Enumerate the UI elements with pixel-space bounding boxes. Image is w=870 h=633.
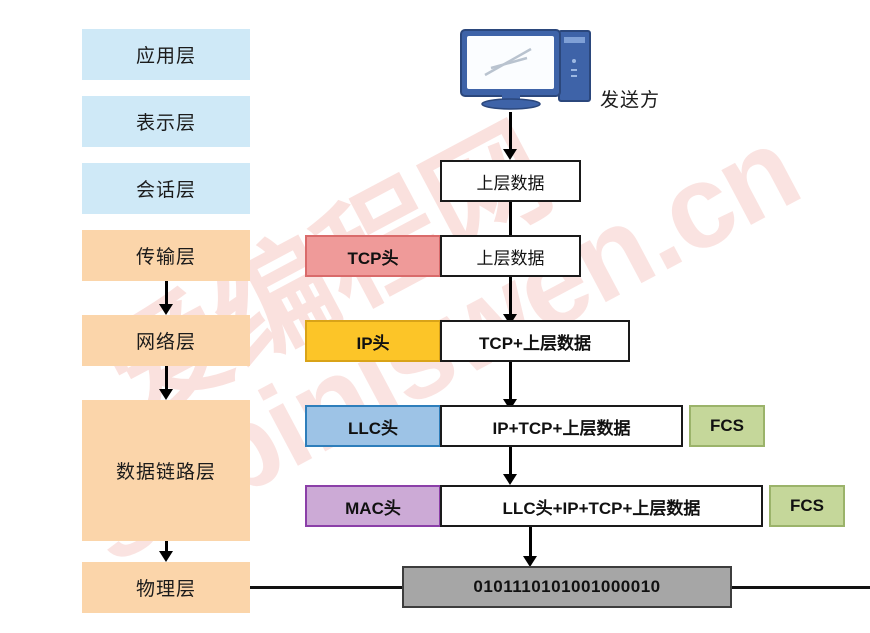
osi-layer-session[interactable]: 会话层	[82, 163, 250, 214]
media-line-left	[250, 586, 410, 589]
pdu-cell-ip-payload[interactable]: TCP+上层数据	[440, 320, 630, 362]
pdu-cell-label: TCP+上层数据	[479, 329, 591, 354]
arrow-datalink-to-physical	[158, 541, 174, 562]
pdu-cell-application-data[interactable]: 上层数据	[440, 160, 581, 202]
arrow-computer-to-data	[502, 112, 518, 160]
pdu-cell-label: 上层数据	[477, 169, 545, 194]
arrow-llc-to-mac	[502, 447, 518, 485]
arrow-transport-to-network	[158, 281, 174, 315]
pdu-cell-mac-payload[interactable]: LLC头+IP+TCP+上层数据	[440, 485, 763, 527]
pdu-cell-label: LLC头+IP+TCP+上层数据	[503, 494, 701, 519]
pdu-cell-label: IP头	[356, 329, 389, 354]
diagram-canvas: 爱编程网 subiniswen.cn 应用层 表示层 会话层 传输层 网络层 数…	[0, 0, 870, 633]
desktop-computer-icon	[455, 25, 600, 110]
pdu-cell-label: 上层数据	[477, 244, 545, 269]
osi-layer-label: 应用层	[136, 41, 196, 68]
pdu-cell-mac-fcs[interactable]: FCS	[769, 485, 845, 527]
osi-layer-presentation[interactable]: 表示层	[82, 96, 250, 147]
osi-layer-label: 会话层	[136, 175, 196, 202]
osi-layer-network[interactable]: 网络层	[82, 315, 250, 366]
osi-layer-datalink[interactable]: 数据链路层	[82, 400, 250, 541]
pdu-cell-tcp-payload[interactable]: 上层数据	[440, 235, 581, 277]
physical-bitstream-label: 0101110101001000010	[473, 577, 660, 597]
arrow-network-to-datalink	[158, 366, 174, 400]
pdu-cell-label: FCS	[710, 416, 744, 436]
arrow-network-to-llc	[502, 362, 518, 410]
arrow-mac-to-physical	[522, 527, 538, 567]
pdu-cell-ip-header[interactable]: IP头	[305, 320, 441, 362]
pdu-cell-label: IP+TCP+上层数据	[493, 414, 631, 439]
osi-layer-label: 数据链路层	[116, 457, 216, 484]
pdu-cell-label: LLC头	[348, 414, 398, 439]
osi-layer-application[interactable]: 应用层	[82, 29, 250, 80]
sender-label: 发送方	[600, 85, 660, 112]
osi-layer-label: 网络层	[136, 327, 196, 354]
pdu-cell-llc-fcs[interactable]: FCS	[689, 405, 765, 447]
pdu-cell-tcp-header[interactable]: TCP头	[305, 235, 441, 277]
osi-layer-physical[interactable]: 物理层	[82, 562, 250, 613]
osi-layer-label: 物理层	[136, 574, 196, 601]
osi-layer-label: 传输层	[136, 242, 196, 269]
pdu-cell-llc-header[interactable]: LLC头	[305, 405, 441, 447]
pdu-cell-llc-payload[interactable]: IP+TCP+上层数据	[440, 405, 683, 447]
pdu-cell-label: FCS	[790, 496, 824, 516]
osi-layer-transport[interactable]: 传输层	[82, 230, 250, 281]
media-line-right	[732, 586, 870, 589]
pdu-cell-mac-header[interactable]: MAC头	[305, 485, 441, 527]
osi-layer-label: 表示层	[136, 108, 196, 135]
pdu-cell-label: TCP头	[348, 244, 399, 269]
physical-bitstream-box[interactable]: 0101110101001000010	[402, 566, 732, 608]
pdu-cell-label: MAC头	[345, 494, 401, 519]
arrow-transport-to-network-data	[502, 277, 518, 325]
